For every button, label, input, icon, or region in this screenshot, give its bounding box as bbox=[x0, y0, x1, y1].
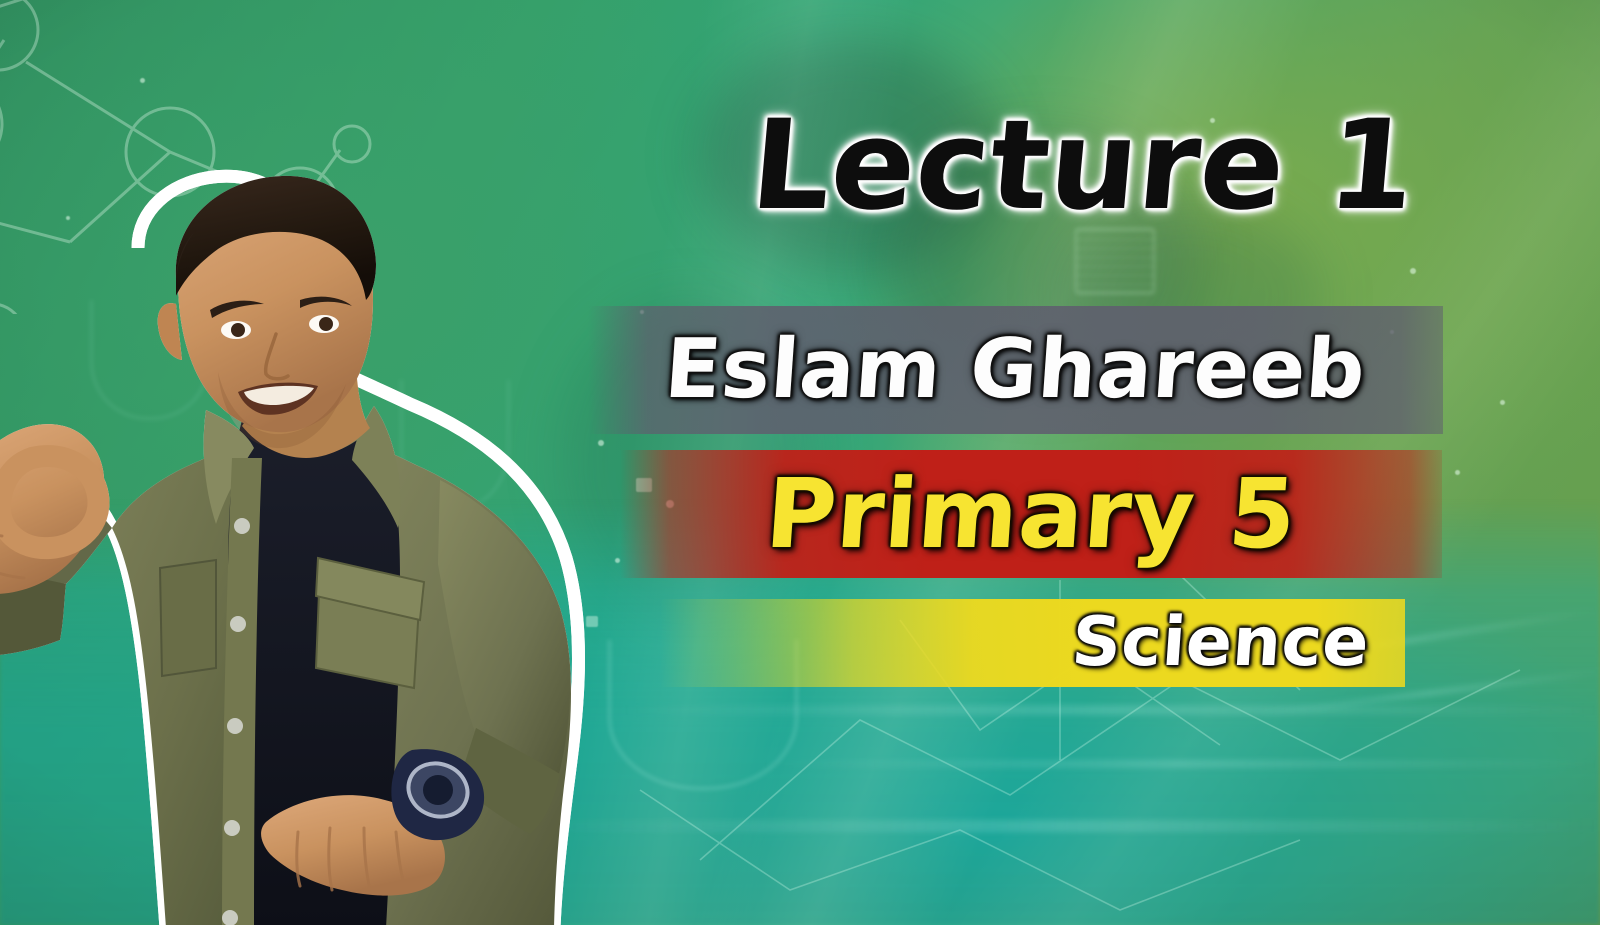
jacket-button bbox=[224, 820, 240, 836]
ear bbox=[158, 303, 182, 360]
pupil-left bbox=[231, 323, 245, 337]
lecture-title: Lecture 1 bbox=[747, 104, 1421, 228]
jacket-button bbox=[234, 518, 250, 534]
jacket-button bbox=[230, 616, 246, 632]
grade-level-bar: Primary 5 bbox=[620, 450, 1442, 578]
jacket-button bbox=[227, 718, 243, 734]
instructor-name-label: Eslam Ghareeb bbox=[663, 329, 1369, 411]
subject-bar: Science bbox=[660, 599, 1405, 687]
watch-dial bbox=[423, 775, 453, 805]
presenter-photo bbox=[0, 128, 610, 925]
pupil-right bbox=[319, 317, 333, 331]
instructor-name-bar: Eslam Ghareeb bbox=[588, 306, 1443, 434]
jacket-chest-pocket-left bbox=[160, 560, 216, 676]
subject-label: Science bbox=[1070, 609, 1372, 677]
grade-level-label: Primary 5 bbox=[763, 466, 1300, 562]
thumbnail-canvas: Lecture 1 Eslam Ghareeb Primary 5 Scienc… bbox=[0, 0, 1600, 925]
